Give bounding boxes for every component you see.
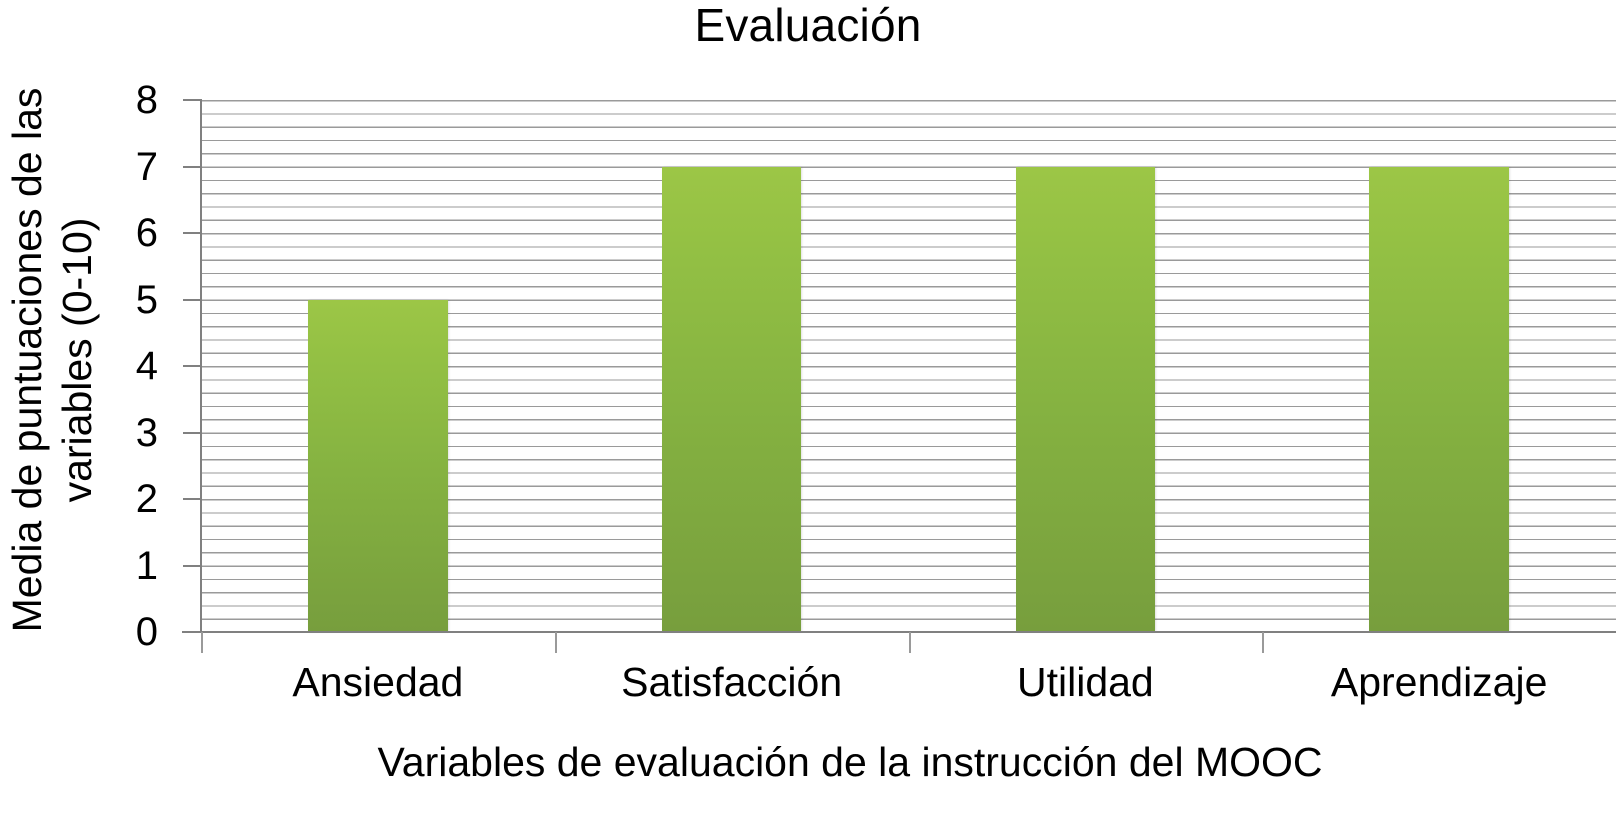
bar-aprendizaje [1369, 167, 1509, 633]
y-tick-8 [183, 99, 201, 101]
y-axis-title: Media de puntuaciones de las variables (… [2, 10, 102, 710]
y-tick-label-2: 2 [98, 479, 158, 519]
x-axis-title: Variables de evaluación de la instrucció… [100, 737, 1600, 787]
y-tick-3 [183, 432, 201, 434]
y-tick-label-7: 7 [98, 147, 158, 187]
y-tick-7 [183, 166, 201, 168]
bar-chart: Evaluación Media de puntuaciones de las … [0, 0, 1616, 824]
y-axis-title-container: Media de puntuaciones de las variables (… [0, 0, 104, 720]
y-tick-label-8: 8 [98, 80, 158, 120]
y-tick-label-0: 0 [98, 612, 158, 652]
y-tick-4 [183, 365, 201, 367]
category-tick-2 [909, 632, 911, 653]
y-tick-label-5: 5 [98, 280, 158, 320]
bar-utilidad [1016, 167, 1156, 633]
bar-satisfacción [662, 167, 802, 633]
y-tick-1 [183, 565, 201, 567]
category-label-ansiedad: Ansiedad [201, 657, 555, 707]
category-tick-3 [1262, 632, 1264, 653]
y-tick-2 [183, 498, 201, 500]
y-tick-5 [183, 299, 201, 301]
y-tick-6 [183, 232, 201, 234]
category-tick-1 [555, 632, 557, 653]
x-axis-line [182, 631, 1616, 633]
bar-ansiedad [308, 300, 448, 633]
y-tick-label-4: 4 [98, 346, 158, 386]
chart-title: Evaluación [0, 0, 1616, 52]
category-label-utilidad: Utilidad [909, 657, 1263, 707]
y-tick-label-6: 6 [98, 213, 158, 253]
plot-area [201, 100, 1616, 632]
y-tick-label-3: 3 [98, 413, 158, 453]
y-tick-label-1: 1 [98, 546, 158, 586]
gridline-top [201, 100, 1616, 101]
category-label-satisfacción: Satisfacción [555, 657, 909, 707]
y-tick-0 [183, 631, 201, 633]
category-label-aprendizaje: Aprendizaje [1262, 657, 1616, 707]
category-tick-0 [201, 632, 203, 653]
